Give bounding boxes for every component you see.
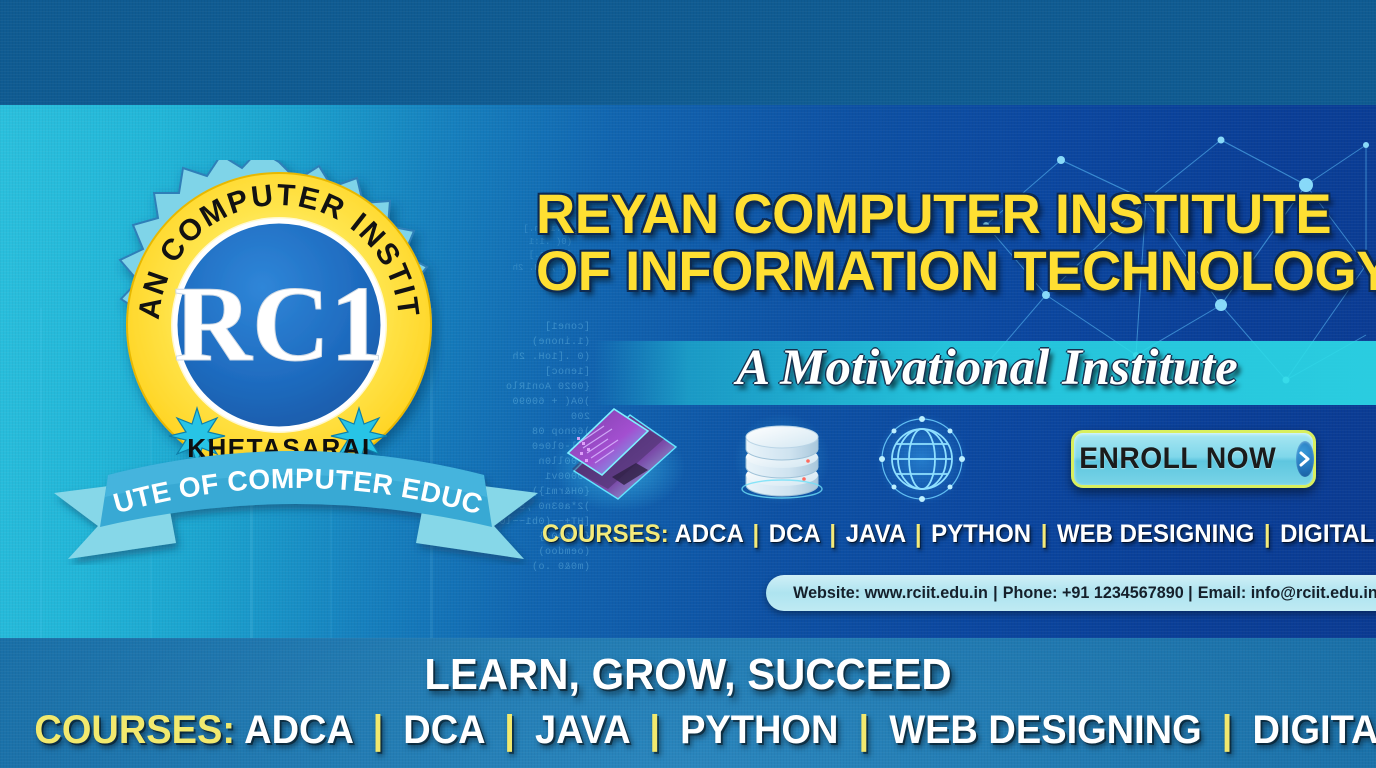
footer-course-adca: ADCA	[244, 708, 352, 752]
tagline: A Motivational Institute	[592, 335, 1376, 401]
contact-info-bar: Website: www.rciit.edu.in | Phone: +91 1…	[766, 575, 1376, 611]
separator: |	[1038, 520, 1050, 548]
footer-course-digital-marketing: DIGITAL MARKETING	[1252, 708, 1376, 752]
footer-course-java: JAVA	[535, 708, 629, 752]
separator: |	[849, 708, 879, 752]
separator: |	[827, 520, 839, 548]
footer-course-python: PYTHON	[680, 708, 838, 752]
footer-courses-label: COURSES:	[34, 708, 235, 752]
footer-course-web-designing: WEB DESIGNING	[889, 708, 1201, 752]
title-line-2: OF INFORMATION TECHNOLOGY	[536, 242, 1322, 299]
banner-course-web-designing: WEB DESIGNING	[1057, 520, 1254, 548]
hero-banner: [1.inoh.] (0( .1:1 [1enoc.] )0 ,1oH. 2h …	[0, 105, 1376, 638]
separator: |	[640, 708, 670, 752]
footer-courses-list: COURSES: ADCA | DCA | JAVA | PYTHON | WE…	[34, 708, 1341, 753]
seal-monogram: RC1	[174, 265, 384, 384]
footer-section: LEARN, GROW, SUCCEED COURSES: ADCA | DCA…	[0, 638, 1376, 768]
separator: |	[1212, 708, 1242, 752]
website-info[interactable]: Website: www.rciit.edu.in	[793, 583, 988, 603]
footer-course-dca: DCA	[403, 708, 484, 752]
enroll-button-label: ENROLL NOW	[1080, 442, 1277, 476]
banner-course-java: JAVA	[846, 520, 906, 548]
banner-course-python: PYTHON	[931, 520, 1031, 548]
globe-icon	[872, 411, 972, 507]
separator: |	[495, 708, 525, 752]
banner-courses-label: COURSES:	[542, 520, 669, 548]
institute-logo: REYAN COMPUTER INSTITUTE RC1 KHETASARAI	[46, 160, 546, 638]
banner-content: REYAN COMPUTER INSTITUTE OF INFORMATION …	[524, 105, 1376, 638]
banner-courses-list: COURSES: ADCA | DCA | JAVA | PYTHON | WE…	[542, 520, 1339, 549]
banner-course-adca: ADCA	[674, 520, 742, 548]
divider: |	[993, 583, 998, 603]
laptop-icon	[552, 407, 687, 512]
chevron-right-icon	[1296, 441, 1314, 477]
separator: |	[750, 520, 762, 548]
title-line-1: REYAN COMPUTER INSTITUTE	[536, 182, 1331, 245]
slogan: LEARN, GROW, SUCCEED	[34, 650, 1341, 700]
separator: |	[363, 708, 393, 752]
enroll-now-button[interactable]: ENROLL NOW	[1071, 430, 1316, 488]
phone-info[interactable]: Phone: +91 1234567890	[1003, 583, 1184, 603]
separator: |	[912, 520, 924, 548]
email-info[interactable]: Email: info@rciit.edu.in	[1198, 583, 1376, 603]
tech-icons-group	[552, 405, 982, 515]
page-title: REYAN COMPUTER INSTITUTE OF INFORMATION …	[536, 185, 1322, 299]
banner-course-digital-marketing: DIGITAL MARKETING	[1280, 520, 1376, 548]
banner-course-dca: DCA	[769, 520, 820, 548]
logo-ribbon: INSTITUTE OF COMPUTER EDUCATION	[46, 435, 546, 565]
separator: |	[1261, 520, 1273, 548]
database-icon	[734, 413, 830, 505]
divider: |	[1188, 583, 1193, 603]
